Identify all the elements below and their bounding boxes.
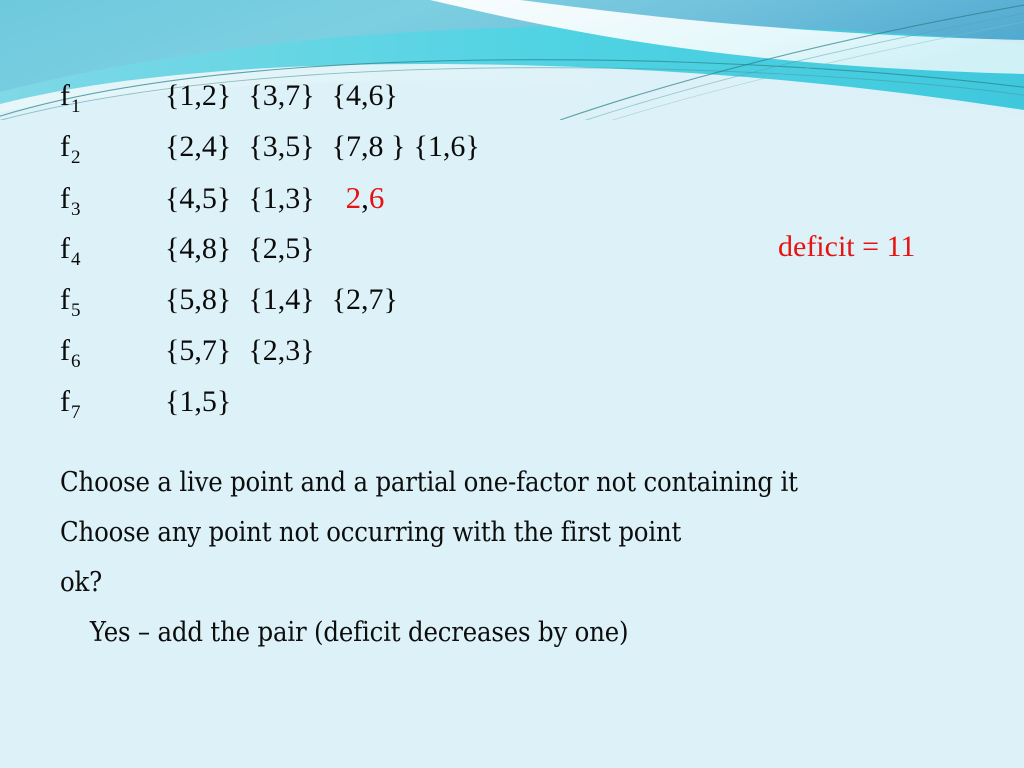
factor-label: f2 (60, 121, 165, 176)
factor-pair: {7,8 } (332, 121, 406, 172)
prose-line: Choose a live point and a partial one-fa… (60, 458, 902, 508)
factor-row: f2{2,4}{3,5}{7,8 }{1,6} (60, 121, 760, 172)
factor-label-subscript: 7 (71, 402, 81, 423)
factor-label-letter: f (60, 79, 70, 112)
factor-pair: {1,2} (165, 70, 231, 121)
factor-label-subscript: 1 (71, 96, 81, 117)
factor-row: f1{1,2}{3,7}{4,6} (60, 70, 760, 121)
factor-label-letter: f (60, 130, 70, 163)
factor-row: f7{1,5} (60, 376, 760, 427)
factor-label: f6 (60, 325, 165, 380)
factor-label: f7 (60, 376, 165, 431)
prose-line: Choose any point not occurring with the … (60, 508, 902, 558)
factor-label: f5 (60, 274, 165, 329)
factor-pair: {4,8} (165, 223, 231, 274)
factor-row: f6{5,7}{2,3} (60, 325, 760, 376)
factor-label-subscript: 5 (71, 300, 81, 321)
factor-label-subscript: 2 (71, 147, 81, 168)
factor-label-letter: f (60, 232, 70, 265)
factor-pair: {1,4} (248, 274, 314, 325)
factor-row: f4{4,8}{2,5} (60, 223, 760, 274)
factor-label-subscript: 4 (71, 249, 81, 270)
factor-pair: {5,7} (165, 325, 231, 376)
factor-label-letter: f (60, 283, 70, 316)
factor-pair: {2,5} (248, 223, 314, 274)
factor-pair: {1,5} (165, 376, 231, 427)
factor-label-letter: f (60, 334, 70, 367)
factor-pair: {3,5} (248, 121, 314, 172)
factor-label: f3 (60, 173, 165, 228)
highlighted-pair: 2,6 (346, 172, 385, 223)
factor-row: f3{4,5}{1,3}2,6 (60, 172, 760, 223)
prose-block: Choose a live point and a partial one-fa… (60, 458, 990, 658)
factor-pair: {5,8} (165, 274, 231, 325)
factor-pair: {1,3} (248, 173, 314, 224)
one-factor-list: f1{1,2}{3,7}{4,6} f2{2,4}{3,5}{7,8 }{1,6… (60, 70, 760, 427)
factor-label-letter: f (60, 385, 70, 418)
factor-pair: {2,4} (165, 121, 231, 172)
factor-pair: {4,5} (165, 173, 231, 224)
factor-pair: {4,6} (332, 70, 398, 121)
factor-pair: {2,3} (248, 325, 314, 376)
highlighted-pair-second: 6 (369, 180, 385, 215)
highlighted-pair-first: 2 (346, 180, 362, 215)
factor-pair: {1,6} (413, 121, 479, 172)
factor-label-letter: f (60, 182, 70, 215)
factor-label-subscript: 3 (71, 199, 81, 220)
prose-line: ok? (60, 558, 902, 608)
deficit-note: deficit = 11 (778, 230, 915, 264)
factor-label-subscript: 6 (71, 351, 81, 372)
highlighted-pair-separator: , (361, 180, 369, 215)
factor-pair: {2,7} (332, 274, 398, 325)
prose-line: Yes – add the pair (deficit decreases by… (60, 608, 902, 658)
slide-canvas: f1{1,2}{3,7}{4,6} f2{2,4}{3,5}{7,8 }{1,6… (0, 0, 1024, 768)
factor-label: f1 (60, 70, 165, 125)
factor-pair: {3,7} (248, 70, 314, 121)
factor-label: f4 (60, 223, 165, 278)
factor-row: f5{5,8}{1,4}{2,7} (60, 274, 760, 325)
